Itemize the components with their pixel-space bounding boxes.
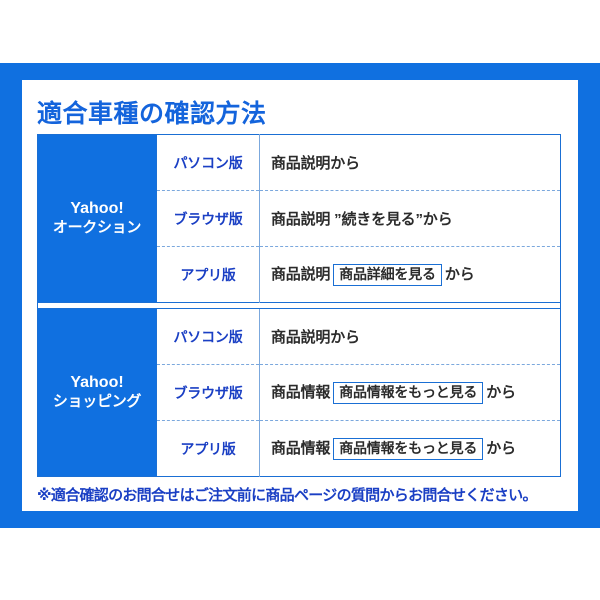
description-cell: 商品説明から <box>260 309 561 365</box>
brand-cell-shopping: Yahoo! ショッピング <box>38 309 157 477</box>
device-label-app: アプリ版 <box>157 421 260 477</box>
brand-label-line1: Yahoo! <box>38 200 156 219</box>
brand-cell-auction: Yahoo! オークション <box>38 135 157 303</box>
desc-text-after: から <box>486 440 516 457</box>
desc-text-before: 商品説明 ”続きを見る”から <box>271 211 452 228</box>
desc-text-before: 商品情報 <box>271 440 330 457</box>
desc-text-before: 商品説明 <box>271 266 330 283</box>
description-cell: 商品説明から <box>260 135 561 191</box>
desc-text-after: から <box>486 384 516 401</box>
boxed-button-label[interactable]: 商品情報をもっと見る <box>333 382 483 405</box>
table-row: Yahoo! オークション パソコン版 商品説明から <box>38 135 561 191</box>
device-label-pc: パソコン版 <box>157 309 260 365</box>
fitment-table: Yahoo! オークション パソコン版 商品説明から ブラウザ版 商品説明 ”続… <box>37 134 561 477</box>
boxed-button-label[interactable]: 商品情報をもっと見る <box>333 438 483 461</box>
brand-label-line2: オークション <box>38 219 156 237</box>
table-row: Yahoo! ショッピング パソコン版 商品説明から <box>38 309 561 365</box>
device-label-browser: ブラウザ版 <box>157 365 260 421</box>
device-label-app: アプリ版 <box>157 247 260 303</box>
device-label-pc: パソコン版 <box>157 135 260 191</box>
brand-label-line1: Yahoo! <box>38 374 156 393</box>
content-panel: 適合車種の確認方法 Yahoo! オークション パソコン版 商品説明から ブラウ… <box>22 80 578 511</box>
desc-text-after: から <box>445 266 475 283</box>
brand-label-line2: ショッピング <box>38 393 156 411</box>
desc-text-before: 商品説明から <box>271 155 360 172</box>
description-cell: 商品説明 ”続きを見る”から <box>260 191 561 247</box>
outer-blue-frame: 適合車種の確認方法 Yahoo! オークション パソコン版 商品説明から ブラウ… <box>0 63 600 528</box>
description-cell: 商品情報商品情報をもっと見るから <box>260 421 561 477</box>
description-cell: 商品情報商品情報をもっと見るから <box>260 365 561 421</box>
desc-text-before: 商品情報 <box>271 384 330 401</box>
page-title: 適合車種の確認方法 <box>37 94 267 130</box>
footer-note: ※適合確認のお問合せはご注文前に商品ページの質問からお問合せください。 <box>37 484 567 505</box>
device-label-browser: ブラウザ版 <box>157 191 260 247</box>
desc-text-before: 商品説明から <box>271 329 360 346</box>
boxed-button-label[interactable]: 商品詳細を見る <box>333 264 442 287</box>
description-cell: 商品説明商品詳細を見るから <box>260 247 561 303</box>
